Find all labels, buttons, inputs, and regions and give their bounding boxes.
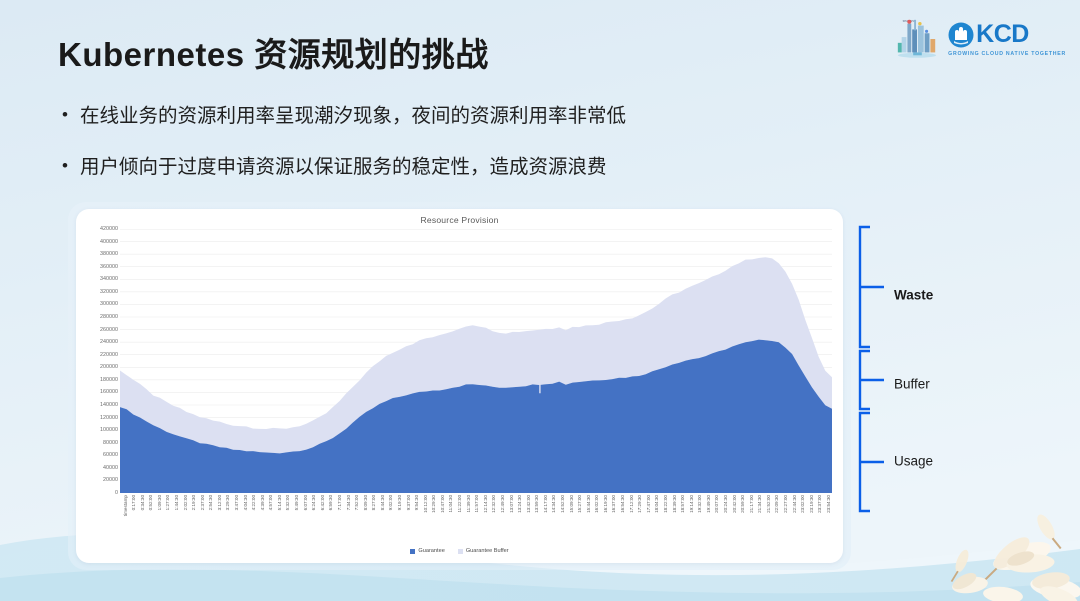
x-axis-tick: 8:44:30 xyxy=(380,495,385,510)
y-axis-tick: 260000 xyxy=(100,327,118,333)
y-axis-tick: 160000 xyxy=(100,389,118,395)
x-axis-tick: 10:29:30 xyxy=(431,495,436,513)
annotation-label-buffer: Buffer xyxy=(894,377,930,392)
x-axis-tick: 4:39:30 xyxy=(260,495,265,510)
x-axis-tick: 18:57:00 xyxy=(680,495,685,513)
legend-label: Guarantee Buffer xyxy=(466,548,509,554)
y-axis-tick: 400000 xyxy=(100,239,118,245)
bullet-marker: • xyxy=(62,104,68,127)
x-axis-tick: 13:42:00 xyxy=(526,495,531,513)
brace-icons xyxy=(846,225,976,515)
x-axis-tick: 9:54:30 xyxy=(414,495,419,510)
stacked-area-plot xyxy=(120,229,832,493)
x-axis-labels: timestamp0:17:000:34:300:52:001:09:301:2… xyxy=(120,495,832,541)
y-axis-tick: 140000 xyxy=(100,402,118,408)
x-axis-tick: 16:19:30 xyxy=(603,495,608,513)
x-axis-tick: 6:42:00 xyxy=(320,495,325,510)
x-axis-tick: 21:17:00 xyxy=(749,495,754,513)
x-axis-tick: 10:47:00 xyxy=(440,495,445,513)
x-axis-tick: 1:44:30 xyxy=(174,495,179,510)
brace-icon xyxy=(860,227,884,347)
x-axis-tick: 15:44:30 xyxy=(586,495,591,513)
x-axis-tick: 2:19:30 xyxy=(191,495,196,510)
x-axis-tick: 18:22:00 xyxy=(663,495,668,513)
chart-title: Resource Provision xyxy=(76,209,843,225)
x-axis-tick: 10:12:00 xyxy=(423,495,428,513)
x-axis-tick: 18:39:30 xyxy=(672,495,677,513)
x-axis-tick: 21:34:30 xyxy=(757,495,762,513)
annotation-label-usage: Usage xyxy=(894,454,933,469)
y-axis-tick: 80000 xyxy=(103,440,118,446)
x-axis-tick: 15:27:00 xyxy=(577,495,582,513)
data-gap-artifact xyxy=(539,384,540,393)
bullet-marker: • xyxy=(62,155,68,178)
y-axis-tick: 40000 xyxy=(103,465,118,471)
x-axis-tick: 12:49:30 xyxy=(500,495,505,513)
annotation-label-waste: Waste xyxy=(894,288,933,303)
y-axis-tick: 360000 xyxy=(100,264,118,270)
y-axis-tick: 320000 xyxy=(100,289,118,295)
x-axis-tick: 12:32:00 xyxy=(491,495,496,513)
x-axis-tick: 3:29:30 xyxy=(225,495,230,510)
x-axis-tick: 23:19:30 xyxy=(809,495,814,513)
x-axis-tick: 8:09:30 xyxy=(363,495,368,510)
x-axis-tick: 12:14:30 xyxy=(483,495,488,513)
chart-card: Resource Provision 420000400000380000360… xyxy=(76,209,843,563)
x-axis-tick: 4:04:30 xyxy=(243,495,248,510)
y-axis-tick: 240000 xyxy=(100,339,118,345)
x-axis-tick: 18:04:30 xyxy=(654,495,659,513)
x-axis-tick: 16:02:00 xyxy=(594,495,599,513)
x-axis-tick: 5:32:00 xyxy=(285,495,290,510)
y-axis-tick: 200000 xyxy=(100,364,118,370)
x-axis-tick: 0:52:00 xyxy=(148,495,153,510)
x-axis-tick: 22:27:00 xyxy=(783,495,788,513)
y-axis-tick: 300000 xyxy=(100,301,118,307)
x-axis-tick: 1:09:30 xyxy=(157,495,162,510)
x-axis-tick: 14:52:00 xyxy=(560,495,565,513)
kcd-wordmark: KCD xyxy=(976,22,1029,47)
legend-item: Guarantee xyxy=(410,548,444,554)
y-axis-tick: 340000 xyxy=(100,276,118,282)
x-axis-tick: 19:14:30 xyxy=(689,495,694,513)
x-axis-tick: 5:14:30 xyxy=(277,495,282,510)
x-axis-tick: 23:54:30 xyxy=(826,495,831,513)
legend-swatch xyxy=(458,549,463,554)
x-axis-tick: 16:37:00 xyxy=(611,495,616,513)
x-axis-tick: 23:02:00 xyxy=(800,495,805,513)
annotation-group: Waste Buffer Usage xyxy=(846,225,976,515)
x-axis-tick: 19:49:30 xyxy=(706,495,711,513)
page-title: Kubernetes 资源规划的挑战 xyxy=(58,28,489,76)
legend-item: Guarantee Buffer xyxy=(458,548,509,554)
list-item: • 在线业务的资源利用率呈现潮汐现象，夜间的资源利用率非常低 xyxy=(62,104,626,128)
x-axis-tick: 0:34:30 xyxy=(140,495,145,510)
x-axis-tick: 3:12:00 xyxy=(217,495,222,510)
y-axis-tick: 280000 xyxy=(100,314,118,320)
x-axis-tick: 13:07:00 xyxy=(509,495,514,513)
x-axis-tick: 17:29:30 xyxy=(637,495,642,513)
x-axis-tick: 2:54:30 xyxy=(208,495,213,510)
x-axis-tick: 20:24:30 xyxy=(723,495,728,513)
x-axis-tick: 7:17:00 xyxy=(337,495,342,510)
y-axis-tick: 120000 xyxy=(100,415,118,421)
x-axis-tick: 9:02:00 xyxy=(388,495,393,510)
kcd-tagline: GROWING CLOUD NATIVE TOGETHER xyxy=(948,51,1066,57)
y-axis-tick: 420000 xyxy=(100,226,118,232)
x-axis-tick: 21:52:00 xyxy=(766,495,771,513)
x-axis-tick: 11:57:00 xyxy=(474,495,479,513)
x-axis-tick: 23:37:00 xyxy=(817,495,822,513)
x-axis-tick: 11:22:00 xyxy=(457,495,462,513)
x-axis-tick: 14:17:00 xyxy=(543,495,548,513)
y-axis-tick: 220000 xyxy=(100,352,118,358)
x-axis-tick: 15:09:30 xyxy=(569,495,574,513)
y-axis-tick: 100000 xyxy=(100,427,118,433)
plot-area: 4200004000003800003600003400003200003000… xyxy=(76,229,843,514)
legend-label: Guarantee xyxy=(418,548,444,554)
x-axis-tick: 17:12:00 xyxy=(629,495,634,513)
x-axis-tick: 13:59:30 xyxy=(534,495,539,513)
x-axis-tick: 22:44:30 xyxy=(792,495,797,513)
x-axis-tick: 9:19:30 xyxy=(397,495,402,510)
x-axis-tick: 9:37:00 xyxy=(406,495,411,510)
chart-legend: Guarantee Guarantee Buffer xyxy=(76,548,843,554)
x-axis-tick: 6:59:30 xyxy=(328,495,333,510)
x-axis-tick: 6:07:00 xyxy=(303,495,308,510)
x-axis-tick: 8:27:00 xyxy=(371,495,376,510)
x-axis-tick: 16:54:30 xyxy=(620,495,625,513)
y-axis-tick: 60000 xyxy=(103,452,118,458)
brace-icon xyxy=(860,351,884,409)
list-item: • 用户倾向于过度申请资源以保证服务的稳定性，造成资源浪费 xyxy=(62,155,626,179)
x-axis-tick: 20:59:30 xyxy=(740,495,745,513)
x-axis-tick: 1:27:00 xyxy=(165,495,170,510)
x-axis-tick: 2:37:00 xyxy=(200,495,205,510)
x-axis-tick: 0:17:00 xyxy=(131,495,136,510)
x-axis-tick: 3:47:00 xyxy=(234,495,239,510)
bullet-text: 在线业务的资源利用率呈现潮汐现象，夜间的资源利用率非常低 xyxy=(80,104,626,128)
x-axis-tick: 14:34:30 xyxy=(551,495,556,513)
x-axis-tick: 4:22:00 xyxy=(251,495,256,510)
y-axis-tick: 180000 xyxy=(100,377,118,383)
x-axis-tick: timestamp xyxy=(123,495,128,516)
city-skyline-icon: SHANGHAI xyxy=(894,16,940,62)
y-axis-tick: 380000 xyxy=(100,251,118,257)
x-axis-tick: 5:49:30 xyxy=(294,495,299,510)
x-axis-tick: 4:57:00 xyxy=(268,495,273,510)
kcd-logo: SHANGHAI KCD GROWING CLOUD NATIVE TOGETH… xyxy=(894,16,1066,62)
legend-swatch xyxy=(410,549,415,554)
x-axis-tick: 11:04:30 xyxy=(448,495,453,513)
bullet-text: 用户倾向于过度申请资源以保证服务的稳定性，造成资源浪费 xyxy=(80,155,607,179)
x-axis-tick: 11:39:30 xyxy=(466,495,471,513)
x-axis-tick: 20:07:00 xyxy=(714,495,719,513)
x-axis-tick: 17:47:00 xyxy=(646,495,651,513)
y-axis-labels: 4200004000003800003600003400003200003000… xyxy=(84,229,118,493)
y-axis-tick: 0 xyxy=(115,490,118,496)
kcd-hands-icon xyxy=(948,22,974,48)
brace-icon xyxy=(860,413,884,511)
x-axis-tick: 20:42:00 xyxy=(732,495,737,513)
x-axis-tick: 6:24:30 xyxy=(311,495,316,510)
x-axis-tick: 19:32:00 xyxy=(697,495,702,513)
x-axis-tick: 7:34:30 xyxy=(346,495,351,510)
x-axis-tick: 7:52:00 xyxy=(354,495,359,510)
x-axis-tick: 13:24:30 xyxy=(517,495,522,513)
y-axis-tick: 20000 xyxy=(103,477,118,483)
x-axis-tick: 2:02:00 xyxy=(183,495,188,510)
x-axis-tick: 22:09:30 xyxy=(774,495,779,513)
bullet-list: • 在线业务的资源利用率呈现潮汐现象，夜间的资源利用率非常低 • 用户倾向于过度… xyxy=(62,104,626,207)
